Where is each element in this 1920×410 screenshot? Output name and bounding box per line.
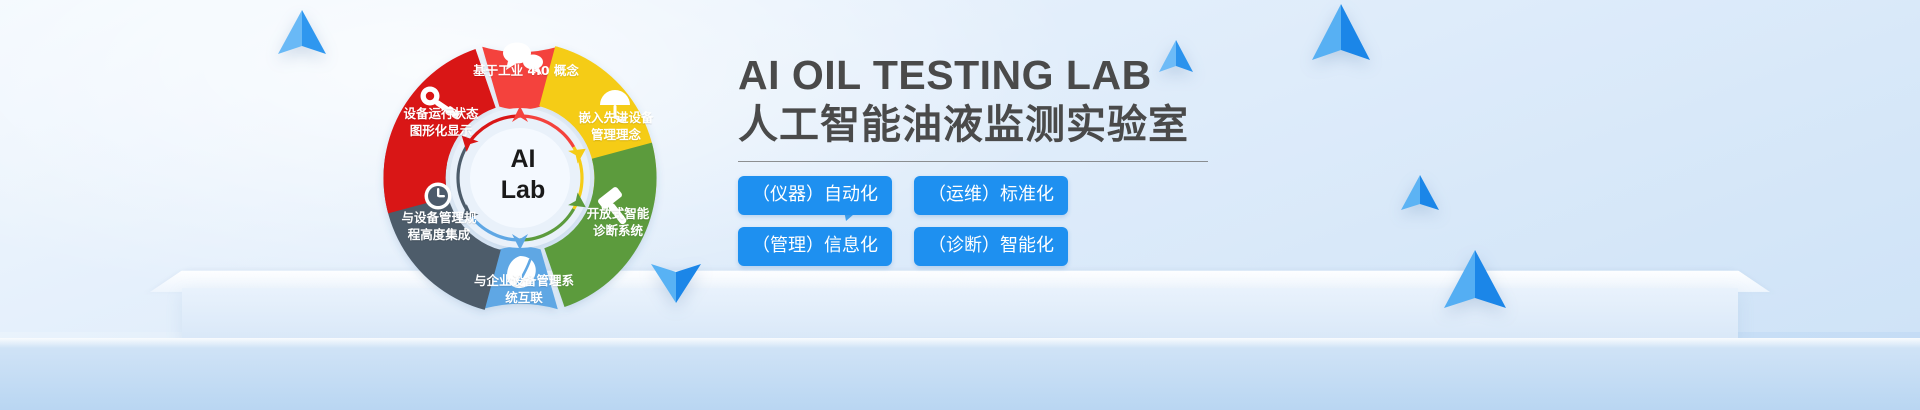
feature-tag-group: （仪器）自动化 （运维）标准化 （管理）信息化 （诊断）智能化	[738, 176, 1178, 266]
hub-label-line2: Lab	[368, 175, 678, 206]
feature-tag-instrument-automation[interactable]: （仪器）自动化	[738, 176, 892, 215]
feature-tag-ops-standardization[interactable]: （运维）标准化	[914, 176, 1068, 215]
page-title-en: AI OIL TESTING LAB	[738, 52, 1438, 98]
headline-block: AI OIL TESTING LAB 人工智能油液监测实验室 （仪器）自动化 （…	[738, 52, 1438, 278]
feature-tag-management-informatization[interactable]: （管理）信息化	[738, 227, 892, 266]
page-title-cn: 人工智能油液监测实验室	[738, 100, 1438, 150]
feature-tag-diagnosis-intelligence[interactable]: （诊断）智能化	[914, 227, 1068, 266]
capability-wheel: 基于工业 4.0 概念 嵌入先进设备 管理理念 开放式智能 诊断系统 与企业设备…	[368, 6, 678, 326]
decor-triangle-top-left	[276, 8, 328, 60]
podium-base-highlight	[0, 338, 1920, 348]
feature-tag-row-2: （管理）信息化 （诊断）智能化	[738, 227, 1178, 266]
banner-root: 基于工业 4.0 概念 嵌入先进设备 管理理念 开放式智能 诊断系统 与企业设备…	[0, 0, 1920, 410]
decor-triangle-right-low	[1440, 246, 1510, 314]
podium-base	[0, 338, 1920, 410]
title-divider	[738, 161, 1208, 162]
feature-tag-row-1: （仪器）自动化 （运维）标准化	[738, 176, 1178, 215]
hub-label-line1: AI	[368, 144, 678, 175]
